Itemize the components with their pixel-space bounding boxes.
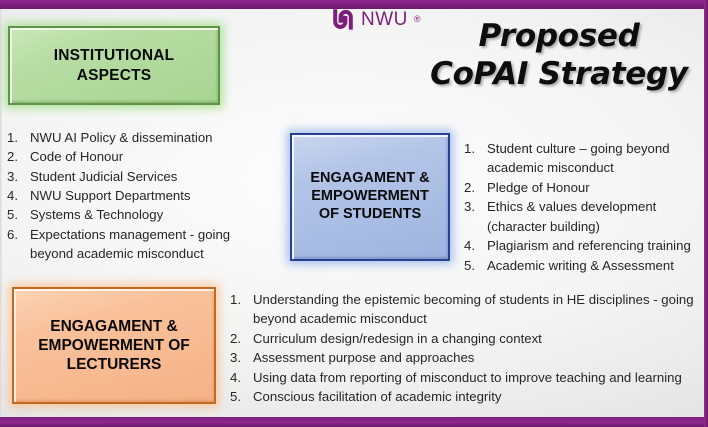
- list-item: Code of Honour: [5, 147, 245, 166]
- left-edge-strip: [0, 9, 2, 417]
- bottom-purple-bar: [0, 417, 708, 427]
- institutional-aspects-list: NWU AI Policy & disseminationCode of Hon…: [5, 128, 245, 263]
- institutional-aspects-label-line1: INSTITUTIONAL: [16, 46, 212, 65]
- student-engagement-box[interactable]: ENGAGAMENT & EMPOWERMENT OF STUDENTS: [290, 133, 450, 261]
- lecturer-engagement-box[interactable]: ENGAGAMENT & EMPOWERMENT OF LECTURERS: [12, 287, 216, 404]
- list-item: Student culture – going beyond academic …: [462, 139, 702, 178]
- lecturer-engagement-label-line2: EMPOWERMENT OF: [20, 336, 208, 355]
- lecturer-engagement-label-line1: ENGAGAMENT &: [20, 317, 208, 336]
- list-item: Systems & Technology: [5, 205, 245, 224]
- institutional-aspects-label-line2: ASPECTS: [16, 66, 212, 85]
- nwu-logo: NWU ®: [330, 7, 421, 32]
- student-engagement-label-line2: EMPOWERMENT: [298, 188, 442, 206]
- list-item: Plagiarism and referencing training: [462, 236, 702, 255]
- presentation-slide: NWU ® Proposed CoPAI Strategy INSTITUTIO…: [0, 0, 708, 427]
- list-item: Assessment purpose and approaches: [228, 348, 706, 367]
- list-item: Student Judicial Services: [5, 167, 245, 186]
- list-item: Ethics & values development (character b…: [462, 197, 702, 236]
- page-title: Proposed CoPAI Strategy: [424, 18, 694, 94]
- student-engagement-label-line3: OF STUDENTS: [298, 206, 442, 224]
- list-item: Expectations management - going beyond a…: [5, 225, 245, 264]
- list-item: NWU AI Policy & dissemination: [5, 128, 245, 147]
- registered-trademark-icon: ®: [414, 15, 421, 24]
- list-item: Academic writing & Assessment: [462, 256, 702, 275]
- list-item: Understanding the epistemic becoming of …: [228, 290, 706, 329]
- list-item: Using data from reporting of misconduct …: [228, 368, 706, 387]
- list-item: Curriculum design/redesign in a changing…: [228, 329, 706, 348]
- list-item: NWU Support Departments: [5, 186, 245, 205]
- list-item: Pledge of Honour: [462, 178, 702, 197]
- lecturer-engagement-list: Understanding the epistemic becoming of …: [228, 290, 706, 406]
- nwu-wordmark: NWU: [361, 10, 408, 29]
- nwu-monogram-icon: [330, 7, 356, 32]
- student-engagement-list: Student culture – going beyond academic …: [462, 139, 702, 275]
- page-title-line2: CoPAI Strategy: [424, 56, 694, 94]
- list-item: Conscious facilitation of academic integ…: [228, 387, 706, 406]
- page-title-line1: Proposed: [424, 18, 694, 56]
- institutional-aspects-box[interactable]: INSTITUTIONAL ASPECTS: [8, 26, 220, 105]
- lecturer-engagement-label-line3: LECTURERS: [20, 355, 208, 374]
- student-engagement-label-line1: ENGAGAMENT &: [298, 170, 442, 188]
